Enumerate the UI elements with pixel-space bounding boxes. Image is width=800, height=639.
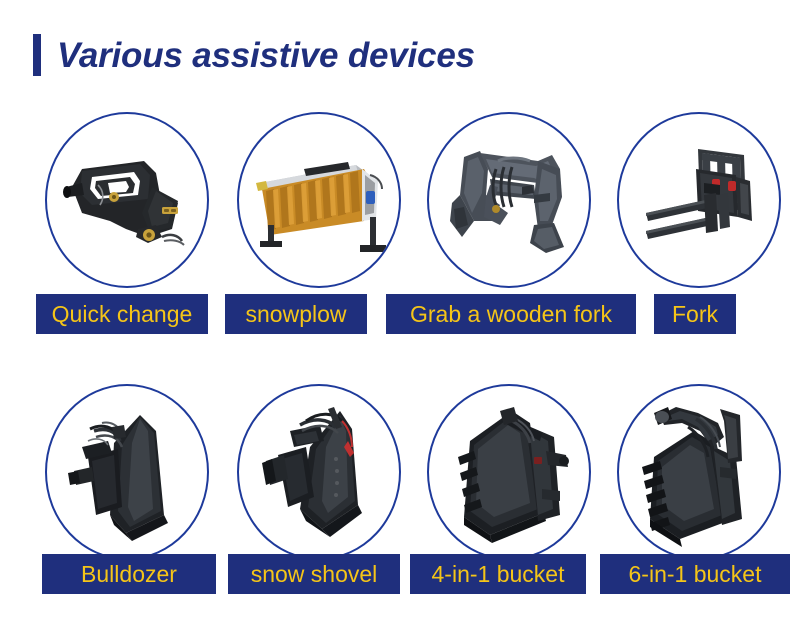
product-card-fork[interactable] xyxy=(608,110,790,290)
product-image-ring xyxy=(45,112,209,288)
product-card-snow-shovel[interactable] xyxy=(228,382,410,562)
product-card-grab-a-wooden-fork[interactable] xyxy=(418,110,600,290)
product-label-grab-a-wooden-fork[interactable]: Grab a wooden fork xyxy=(386,294,636,334)
product-row-1 xyxy=(0,110,800,290)
product-image-ring xyxy=(617,112,781,288)
product-image-ring xyxy=(427,112,591,288)
product-label-6-in-1-bucket[interactable]: 6-in-1 bucket xyxy=(600,554,790,594)
product-label-row-2: Bulldozer snow shovel 4-in-1 bucket 6-in… xyxy=(0,554,800,596)
product-card-snowplow[interactable] xyxy=(228,110,410,290)
snow-shovel-blade-photo xyxy=(244,397,394,547)
product-card-bulldozer[interactable] xyxy=(36,382,218,562)
product-label-bulldozer[interactable]: Bulldozer xyxy=(42,554,216,594)
product-card-4-in-1-bucket[interactable] xyxy=(418,382,600,562)
product-row-2 xyxy=(0,382,800,562)
pallet-fork-photo xyxy=(624,125,774,275)
quick-change-attachment-photo xyxy=(52,125,202,275)
product-label-row-1: Quick change snowplow Grab a wooden fork… xyxy=(0,294,800,336)
product-label-4-in-1-bucket[interactable]: 4-in-1 bucket xyxy=(410,554,586,594)
header-accent-bar xyxy=(33,34,41,76)
product-image-ring xyxy=(237,384,401,560)
log-grapple-fork-photo xyxy=(434,125,584,275)
product-image-ring xyxy=(617,384,781,560)
product-card-quick-change[interactable] xyxy=(36,110,218,290)
page-title: Various assistive devices xyxy=(57,38,475,73)
snowplow-brush-sweeper-photo xyxy=(244,125,394,275)
product-card-6-in-1-bucket[interactable] xyxy=(608,382,790,562)
product-showcase-page: Various assistive devices xyxy=(0,0,800,639)
product-image-ring xyxy=(45,384,209,560)
product-image-ring xyxy=(427,384,591,560)
product-label-snow-shovel[interactable]: snow shovel xyxy=(228,554,400,594)
six-in-one-bucket-photo xyxy=(624,397,774,547)
page-header: Various assistive devices xyxy=(33,30,475,80)
dozer-blade-photo xyxy=(52,397,202,547)
product-label-fork[interactable]: Fork xyxy=(654,294,736,334)
product-image-ring xyxy=(237,112,401,288)
four-in-one-bucket-photo xyxy=(434,397,584,547)
product-label-snowplow[interactable]: snowplow xyxy=(225,294,367,334)
product-label-quick-change[interactable]: Quick change xyxy=(36,294,208,334)
